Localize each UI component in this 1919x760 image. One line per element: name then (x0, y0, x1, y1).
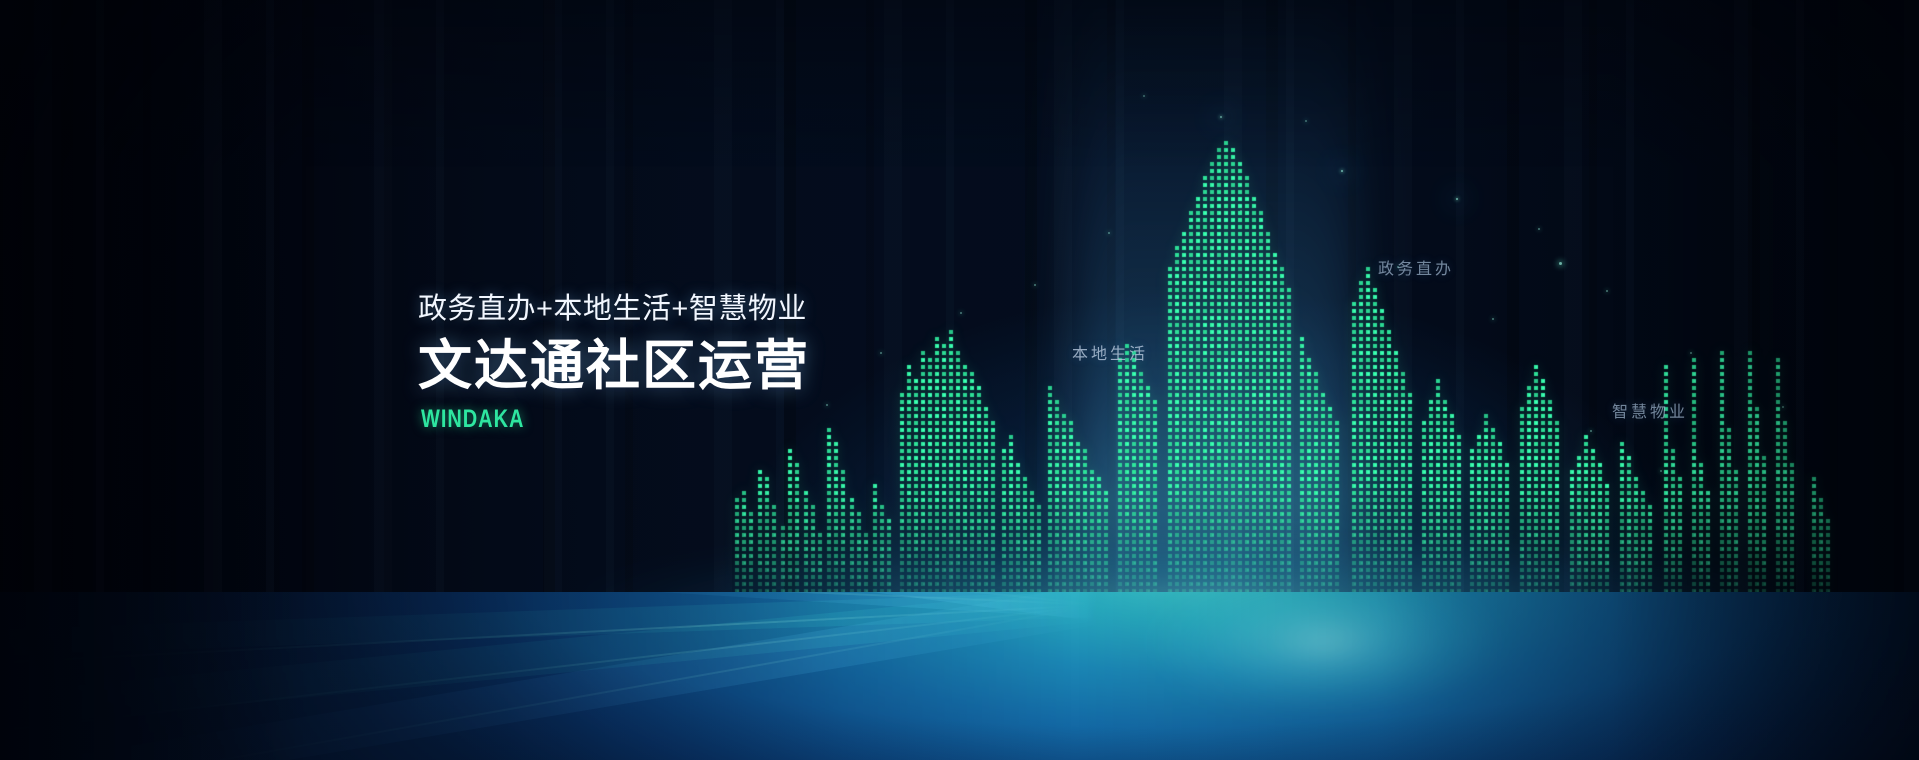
banner-title: 文达通社区运营 (418, 338, 810, 395)
banner-subtitle: 政务直办+本地生活+智慧物业 (418, 292, 810, 327)
perspective-ground (0, 592, 1919, 760)
city-label-smart-property: 智慧物业 (1612, 398, 1688, 422)
tower-light-beam (1075, 0, 1355, 594)
hero-banner: 政务直办 本地生活 智慧物业 政务直办+本地生活+智慧物业 文达通社区运营 WI… (0, 0, 1919, 760)
ground-vignette (0, 592, 1919, 760)
brand-wordmark: WINDAKA (421, 405, 732, 434)
city-label-local-life: 本地生活 (1072, 340, 1148, 364)
city-label-government: 政务直办 (1378, 255, 1454, 279)
headline-block: 政务直办+本地生活+智慧物业 文达通社区运营 WINDAKA (418, 292, 810, 434)
